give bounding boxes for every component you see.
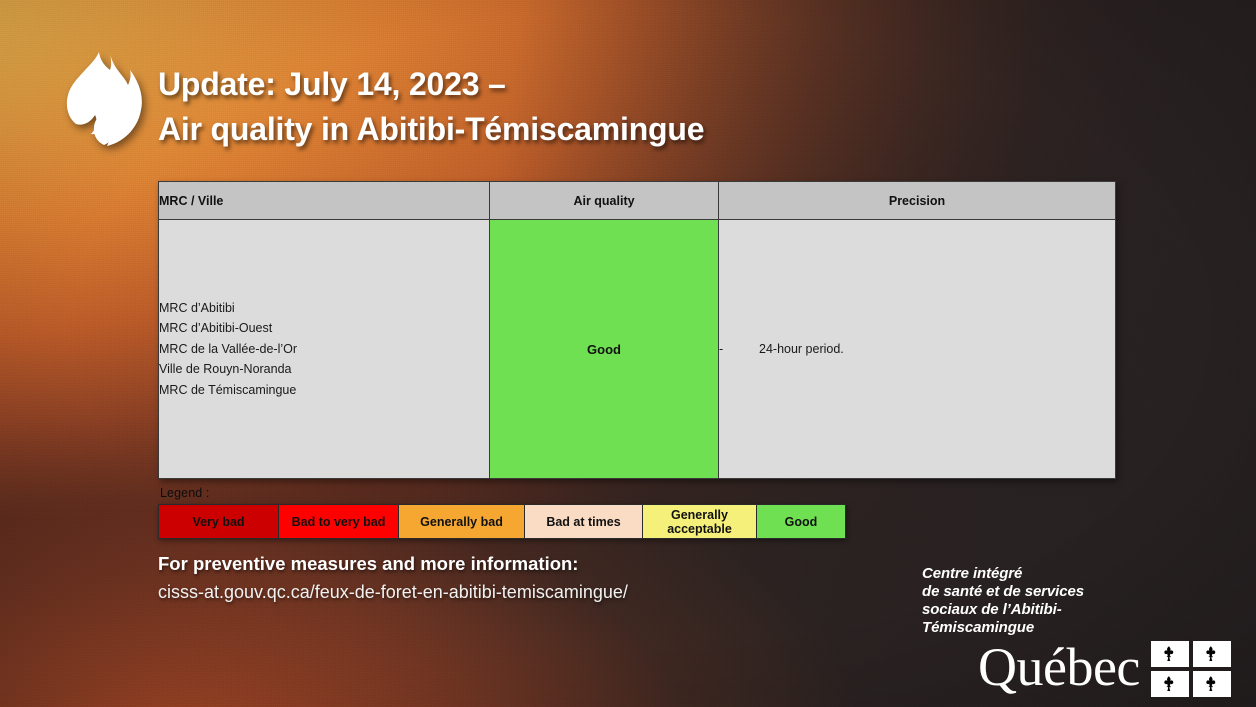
cell-air-quality-status: Good <box>490 220 719 479</box>
legend: Very bad Bad to very bad Generally bad B… <box>158 504 846 539</box>
legend-item-very-bad: Very bad <box>159 505 279 538</box>
mrc-item: MRC d’Abitibi-Ouest <box>159 318 489 338</box>
column-header-mrc: MRC / Ville <box>159 182 490 220</box>
fleur-de-lis-icon <box>1151 641 1189 667</box>
precision-text: 24-hour period. <box>759 342 844 356</box>
cisss-line: Centre intégré <box>922 565 1192 583</box>
slide: Update: July 14, 2023 – Air quality in A… <box>0 0 1256 707</box>
cisss-line: de santé et de services <box>922 583 1192 601</box>
mrc-item: Ville de Rouyn-Noranda <box>159 359 489 379</box>
legend-item-generally-acceptable: Generally acceptable <box>643 505 757 538</box>
precision-row: - 24-hour period. <box>719 342 1115 356</box>
legend-label: Legend : <box>160 486 209 501</box>
fleur-de-lis-icon <box>1193 671 1231 697</box>
column-header-precision: Precision <box>719 182 1116 220</box>
page-title: Update: July 14, 2023 – Air quality in A… <box>158 62 1058 152</box>
air-quality-table: MRC / Ville Air quality Precision MRC d’… <box>158 181 1116 479</box>
mrc-item: MRC d’Abitibi <box>159 298 489 318</box>
mrc-item: MRC de Témiscamingue <box>159 380 489 400</box>
quebec-logo: Québec <box>978 637 1231 697</box>
flame-icon <box>66 52 144 154</box>
quebec-flag-grid <box>1151 641 1231 697</box>
title-line-1: Update: July 14, 2023 – <box>158 62 1058 107</box>
title-line-2: Air quality in Abitibi-Témiscamingue <box>158 107 1058 152</box>
fleur-de-lis-icon <box>1193 641 1231 667</box>
cisss-logo-text: Centre intégré de santé et de services s… <box>922 565 1192 637</box>
cell-mrc-list: MRC d’Abitibi MRC d’Abitibi-Ouest MRC de… <box>159 220 490 479</box>
footer-url[interactable]: cisss-at.gouv.qc.ca/feux-de-foret-en-abi… <box>158 582 628 603</box>
table-header-row: MRC / Ville Air quality Precision <box>159 182 1116 220</box>
cell-precision: - 24-hour period. <box>719 220 1116 479</box>
footer-heading: For preventive measures and more informa… <box>158 553 578 575</box>
legend-item-generally-bad: Generally bad <box>399 505 525 538</box>
precision-bullet: - <box>719 342 759 356</box>
legend-item-bad-at-times: Bad at times <box>525 505 643 538</box>
column-header-air: Air quality <box>490 182 719 220</box>
mrc-item: MRC de la Vallée-de-l’Or <box>159 339 489 359</box>
table-row: MRC d’Abitibi MRC d’Abitibi-Ouest MRC de… <box>159 220 1116 479</box>
legend-item-good: Good <box>757 505 845 538</box>
cisss-line: Témiscamingue <box>922 619 1192 637</box>
fleur-de-lis-icon <box>1151 671 1189 697</box>
legend-item-bad-to-very-bad: Bad to very bad <box>279 505 399 538</box>
cisss-line: sociaux de l’Abitibi- <box>922 601 1192 619</box>
quebec-wordmark: Québec <box>978 640 1140 694</box>
